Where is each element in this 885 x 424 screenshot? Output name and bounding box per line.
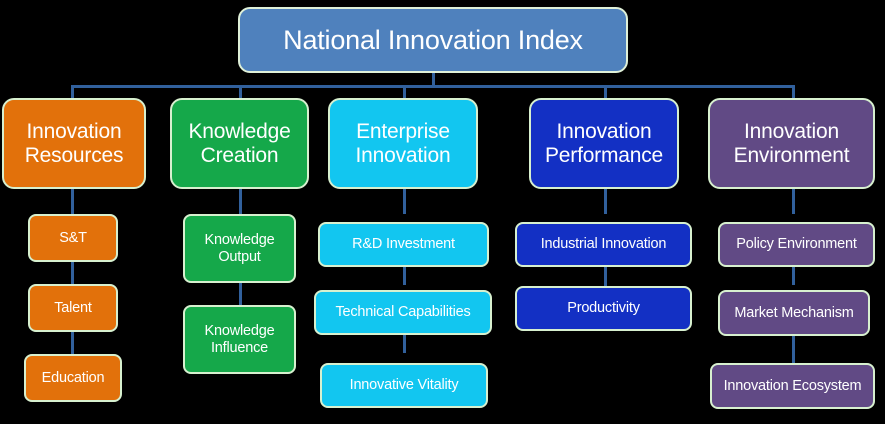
connector-col1-c (71, 332, 74, 354)
branch-node-innovation-resources[interactable]: Innovation Resources (2, 98, 146, 189)
branch-node-innovation-environment[interactable]: Innovation Environment (708, 98, 875, 189)
root-node-national-innovation-index[interactable]: National Innovation Index (238, 7, 628, 73)
connector-col4-a (604, 188, 607, 214)
connector-drop-5 (792, 85, 795, 99)
branch-node-enterprise-innovation[interactable]: Enterprise Innovation (328, 98, 478, 189)
leaf-node-knowledge-influence[interactable]: Knowledge Influence (183, 305, 296, 374)
leaf-node-rd-investment[interactable]: R&D Investment (318, 222, 489, 267)
leaf-node-productivity[interactable]: Productivity (515, 286, 692, 331)
connector-col3-c (403, 335, 406, 353)
connector-col5-c (792, 336, 795, 363)
innovation-index-diagram: National Innovation Index Innovation Res… (0, 0, 885, 424)
connector-col5-b (792, 267, 795, 285)
connector-drop-3 (403, 85, 406, 99)
leaf-node-policy-environment[interactable]: Policy Environment (718, 222, 875, 267)
connector-col1-a (71, 188, 74, 214)
leaf-node-st[interactable]: S&T (28, 214, 118, 262)
leaf-node-education[interactable]: Education (24, 354, 122, 402)
connector-root-stem (432, 72, 435, 86)
leaf-node-technical-capabilities[interactable]: Technical Capabilities (314, 290, 492, 335)
connector-drop-1 (71, 85, 74, 99)
connector-horizontal-bus (71, 85, 795, 88)
leaf-node-innovation-ecosystem[interactable]: Innovation Ecosystem (710, 363, 875, 409)
branch-node-knowledge-creation[interactable]: Knowledge Creation (170, 98, 309, 189)
connector-col3-b (403, 267, 406, 285)
connector-col2-a (239, 188, 242, 214)
connector-col4-b (604, 267, 607, 286)
connector-col3-a (403, 188, 406, 214)
connector-col2-b (239, 283, 242, 305)
leaf-node-market-mechanism[interactable]: Market Mechanism (718, 290, 870, 336)
leaf-node-innovative-vitality[interactable]: Innovative Vitality (320, 363, 488, 408)
leaf-node-knowledge-output[interactable]: Knowledge Output (183, 214, 296, 283)
connector-drop-4 (604, 85, 607, 99)
branch-node-innovation-performance[interactable]: Innovation Performance (529, 98, 679, 189)
connector-col1-b (71, 262, 74, 284)
leaf-node-industrial-innovation[interactable]: Industrial Innovation (515, 222, 692, 267)
leaf-node-talent[interactable]: Talent (28, 284, 118, 332)
connector-drop-2 (239, 85, 242, 99)
connector-col5-a (792, 188, 795, 214)
